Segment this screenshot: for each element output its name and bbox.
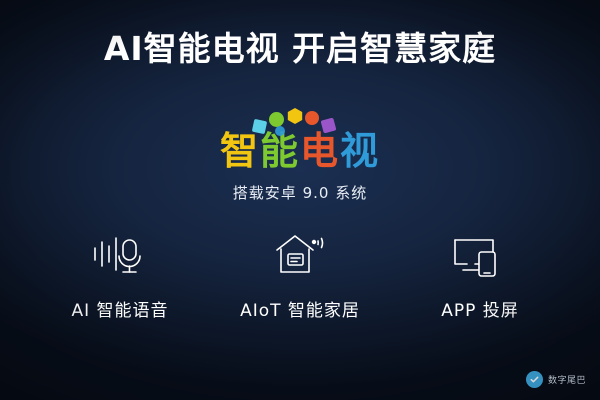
page-title: AI智能电视 开启智慧家庭 [0,22,600,70]
watermark-text: 数字尾巴 [548,373,586,386]
logo-shape-purple-square-icon [321,118,337,134]
feature-label-voice: AI 智能语音 [30,296,210,321]
feature-item-smart-home: AIoT 智能家居 [210,228,390,321]
screen-cast-icon [390,228,570,280]
logo-shape-blue-dot-icon [275,126,285,136]
slide-canvas: AI智能电视 开启智慧家庭 智能电视 搭载安卓 9.0 系统 [0,0,600,400]
watermark: 数字尾巴 [526,371,586,388]
feature-list: AI 智能语音 AIoT 智能家居 [30,228,570,321]
logo-shape-orange-circle-icon [305,111,319,125]
brand-logo-block: 智能电视 搭载安卓 9.0 系统 [0,108,600,203]
logo-decorative-shapes [245,108,355,138]
feature-item-screen-cast: APP 投屏 [390,228,570,321]
feature-item-voice: AI 智能语音 [30,228,210,321]
voice-microphone-icon [30,228,210,280]
logo-shape-yellow-hexagon-icon [287,108,303,124]
feature-label-screen-cast: APP 投屏 [390,296,570,321]
check-badge-icon [526,371,543,388]
logo-shape-green-circle-icon [269,112,284,127]
smart-home-icon [210,228,390,280]
logo-subtitle: 搭载安卓 9.0 系统 [0,182,600,203]
feature-label-smart-home: AIoT 智能家居 [210,296,390,321]
logo-shape-cyan-square-icon [252,119,267,134]
